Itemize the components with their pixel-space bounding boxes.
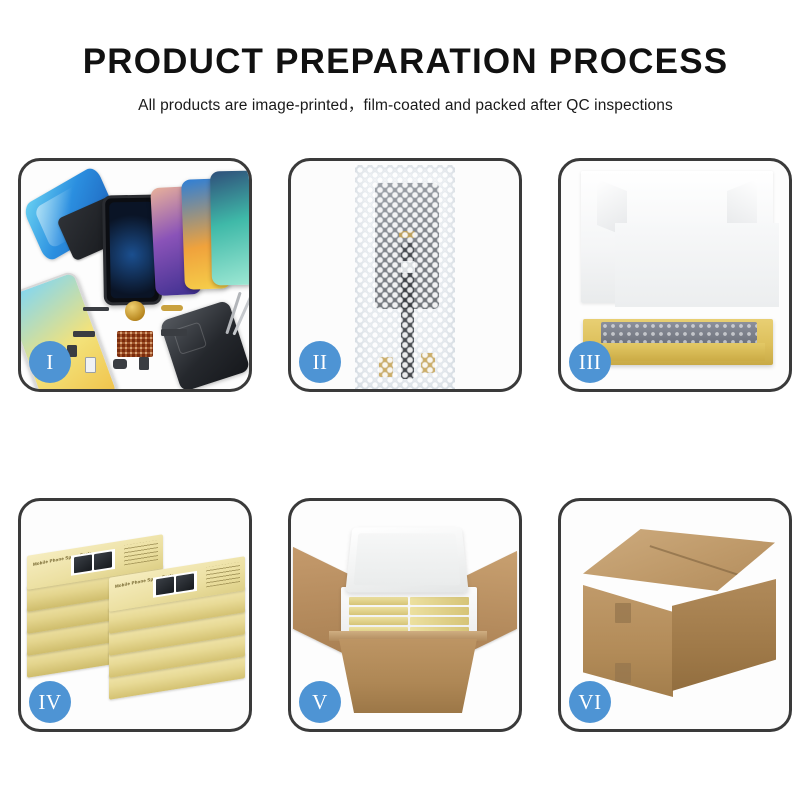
carton-left-face [583, 585, 673, 697]
yellow-boxes-inside [349, 597, 469, 635]
carton-right-face [672, 579, 776, 691]
yellow-box-slice [410, 597, 469, 605]
carton-tape-upper [615, 603, 631, 623]
product-preparation-infographic: PRODUCT PREPARATION PROCESS All products… [0, 0, 811, 811]
box-spec-text-block [124, 540, 158, 565]
bubble-wrap-contents-icon [601, 322, 757, 344]
bubble-texture [355, 165, 455, 389]
carton-body-icon [333, 639, 483, 713]
step-panel-sealed-carton: VI [558, 498, 792, 732]
phone-teal-icon [210, 171, 249, 286]
step-badge-3: III [569, 341, 611, 383]
page-title: PRODUCT PREPARATION PROCESS [0, 44, 811, 79]
part-camera-icon [139, 357, 149, 370]
carton-tape-lower [615, 663, 631, 683]
part-battery-icon [85, 357, 96, 373]
step-panel-raw-parts: I [18, 158, 252, 392]
yellow-box-slice [349, 597, 408, 605]
step-badge-6: VI [569, 681, 611, 723]
step-badge-4: IV [29, 681, 71, 723]
yellow-box-column-left [349, 597, 408, 635]
step-badge-5: V [299, 681, 341, 723]
lid-inner-face [615, 223, 779, 307]
step-badge-2: II [299, 341, 341, 383]
step-panel-inner-box: III [558, 158, 792, 392]
steps-grid: I II [18, 158, 793, 732]
part-connector-icon [161, 305, 183, 311]
step-panel-stacked-boxes: Mobile Phone Spare Parts Mobile Phone Sp… [18, 498, 252, 732]
bubble-wrap-bag-icon [355, 165, 455, 389]
yellow-box-slice [410, 607, 469, 615]
yellow-box-slice [410, 617, 469, 625]
carton-top-seam [650, 545, 761, 583]
yellow-box-slice [349, 607, 408, 615]
step-badge-1: I [29, 341, 71, 383]
part-flex2-icon [161, 329, 187, 336]
part-speaker-icon [113, 359, 127, 369]
header: PRODUCT PREPARATION PROCESS All products… [0, 0, 811, 115]
box-spec-text-block [206, 562, 240, 587]
yellow-box-column-right [410, 597, 469, 635]
part-strip-icon [83, 307, 109, 311]
yellow-box-slice [349, 617, 408, 625]
part-flex-icon [73, 331, 95, 337]
chip-array-icon [117, 331, 153, 357]
tray-front-face [591, 343, 765, 361]
phone-backplate-icon [159, 300, 249, 389]
yellow-box-tray-icon [583, 319, 773, 365]
step-panel-foam-carton: V [288, 498, 522, 732]
carton-top-face [583, 529, 775, 591]
coil-part-icon [125, 301, 145, 321]
foam-lid-icon [345, 527, 468, 592]
white-box-lid-icon [581, 171, 773, 303]
step-panel-bubble-wrap: II [288, 158, 522, 392]
page-subtitle: All products are image-printed，film-coat… [0, 93, 811, 115]
